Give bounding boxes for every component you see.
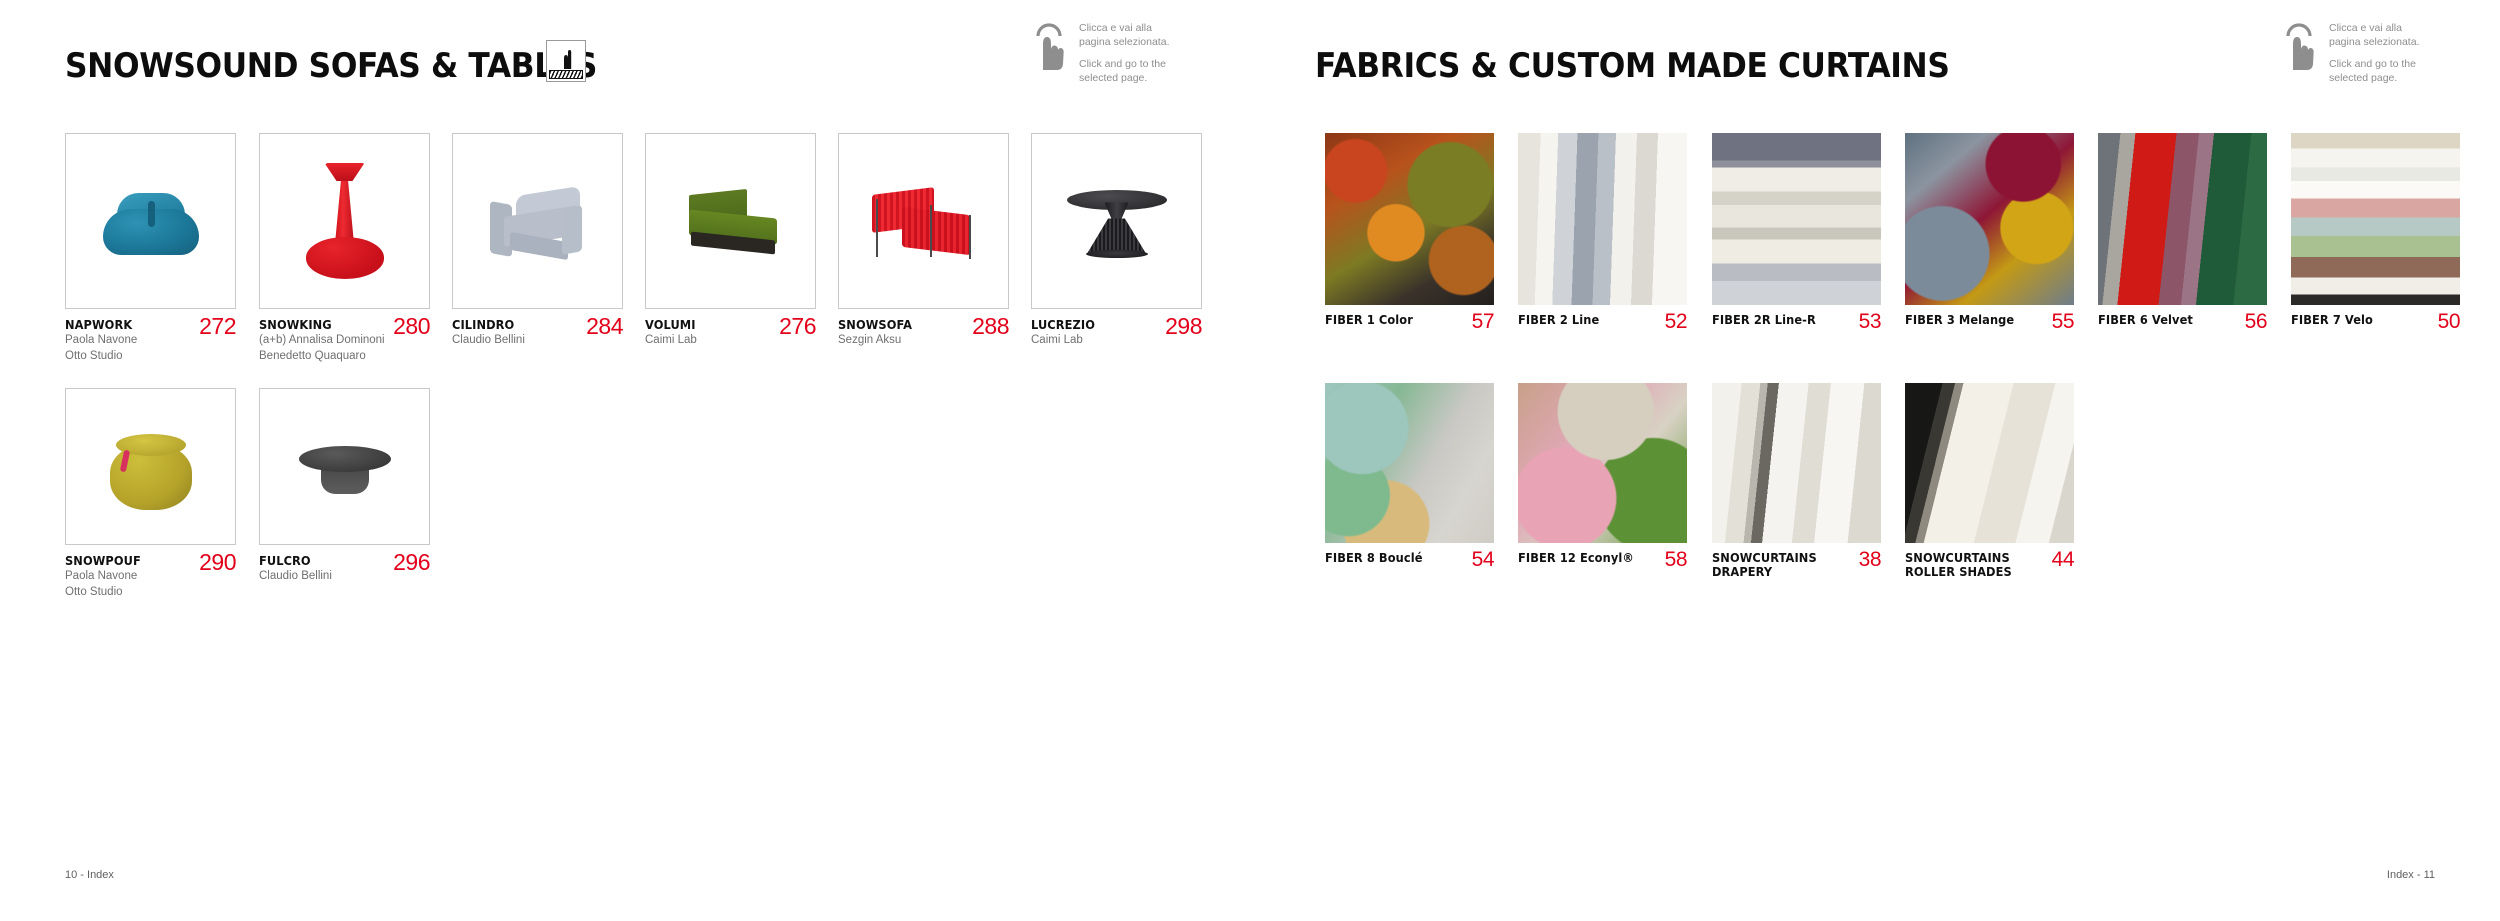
fabric-name-line1: FIBER 2R Line-R	[1712, 313, 1873, 327]
product-page-number[interactable]: 284	[586, 313, 623, 340]
fabric-caption: FIBER 2 Line 52	[1518, 313, 1687, 347]
product-card-snowsofa[interactable]: SNOWSOFA Sezgin Aksu 288	[838, 133, 1009, 376]
fabric-card-fiber-8-boucle[interactable]: FIBER 8 Bouclé 54	[1325, 383, 1494, 585]
fabric-card-fiber-12-econyl[interactable]: FIBER 12 Econyl® 58	[1518, 383, 1687, 585]
product-card-snowpouf[interactable]: SNOWPOUF Paola Navone Otto Studio 290	[65, 388, 236, 612]
hand-pointer-badge-icon	[546, 40, 586, 82]
fabric-thumb[interactable]	[1905, 133, 2074, 305]
fabric-caption: SNOWCURTAINS DRAPERY 38	[1712, 551, 1881, 585]
fabric-name-line1: FIBER 7 Velo	[2291, 313, 2452, 327]
fabric-thumb[interactable]	[1518, 133, 1687, 305]
fabric-caption: FIBER 12 Econyl® 58	[1518, 551, 1687, 585]
fabric-thumb[interactable]	[1325, 383, 1494, 543]
fabric-card-fiber-6-velvet[interactable]: FIBER 6 Velvet 56	[2098, 133, 2267, 347]
fabric-page-number[interactable]: 53	[1859, 310, 1881, 334]
product-thumb[interactable]	[65, 133, 236, 309]
fabric-caption: FIBER 8 Bouclé 54	[1325, 551, 1494, 585]
product-card-fulcro[interactable]: FULCRO Claudio Bellini 296	[259, 388, 430, 612]
fabric-name-line1: SNOWCURTAINS	[1905, 551, 2066, 565]
fabric-card-snowcurtains-roller-shades[interactable]: SNOWCURTAINS ROLLER SHADES 44	[1905, 383, 2074, 585]
fabric-card-fiber-7-velo[interactable]: FIBER 7 Velo 50	[2291, 133, 2460, 347]
click-hint-text: Clicca e vai alla pagina selezionata. Cl…	[1079, 18, 1170, 85]
product-page-number[interactable]: 288	[972, 313, 1009, 340]
left-page: SNOWSOUND SOFAS & TABLES Clicca e vai al…	[0, 0, 1250, 921]
product-page-number[interactable]: 276	[779, 313, 816, 340]
fabric-page-number[interactable]: 52	[1665, 310, 1687, 334]
fabric-name-line1: FIBER 8 Bouclé	[1325, 551, 1486, 565]
product-card-volumi[interactable]: VOLUMI Caimi Lab 276	[645, 133, 816, 376]
fabric-caption: FIBER 6 Velvet 56	[2098, 313, 2267, 347]
fabric-swatch-image	[1325, 133, 1494, 305]
hand-click-icon	[1030, 18, 1068, 72]
fabric-name-line2: DRAPERY	[1712, 565, 1873, 579]
fabric-caption: FIBER 1 Color 57	[1325, 313, 1494, 347]
hint-en-line1: Click and go to the	[2329, 58, 2420, 72]
fabric-caption: SNOWCURTAINS ROLLER SHADES 44	[1905, 551, 2074, 585]
hand-click-icon	[2280, 18, 2318, 72]
product-thumb[interactable]	[259, 388, 430, 545]
fabric-swatch-image	[1905, 133, 2074, 305]
left-page-footer: 10 - Index	[65, 869, 114, 881]
product-thumb[interactable]	[838, 133, 1009, 309]
product-designer-2: Benedetto Quaquaro	[259, 349, 430, 364]
click-hint-text: Clicca e vai alla pagina selezionata. Cl…	[2329, 18, 2420, 85]
hint-it-line2: pagina selezionata.	[2329, 36, 2420, 50]
fabric-name-line2: ROLLER SHADES	[1905, 565, 2066, 579]
page-title: FABRICS & CUSTOM MADE CURTAINS	[1315, 46, 1950, 86]
lucrezio-artwork	[1067, 188, 1167, 260]
product-caption: LUCREZIO Caimi Lab 298	[1031, 318, 1202, 376]
fabric-card-fiber-1-color[interactable]: FIBER 1 Color 57	[1325, 133, 1494, 347]
product-caption: CILINDRO Claudio Bellini 284	[452, 318, 623, 376]
fabric-thumb[interactable]	[1712, 383, 1881, 543]
fabric-name-line1: FIBER 6 Velvet	[2098, 313, 2259, 327]
cilindro-artwork	[486, 185, 590, 263]
fabric-thumb[interactable]	[1712, 133, 1881, 305]
fabric-thumb[interactable]	[2098, 133, 2267, 305]
fabric-page-number[interactable]: 58	[1665, 548, 1687, 572]
fabric-swatch-image	[2291, 133, 2460, 305]
product-designer-2: Otto Studio	[65, 349, 236, 364]
fabric-name-line1: FIBER 1 Color	[1325, 313, 1486, 327]
hint-it-line1: Clicca e vai alla	[2329, 22, 2420, 36]
napwork-artwork	[103, 193, 199, 255]
fabric-thumb[interactable]	[1518, 383, 1687, 543]
product-caption: SNOWSOFA Sezgin Aksu 288	[838, 318, 1009, 376]
product-card-snowking[interactable]: SNOWKING (a+b) Annalisa Dominoni Benedet…	[259, 133, 430, 376]
product-designer-2: Otto Studio	[65, 585, 236, 600]
hint-en-line1: Click and go to the	[1079, 58, 1170, 72]
fabric-swatch-image	[1712, 383, 1881, 543]
fulcro-artwork	[299, 446, 391, 500]
product-card-lucrezio[interactable]: LUCREZIO Caimi Lab 298	[1031, 133, 1202, 376]
product-page-number[interactable]: 290	[199, 549, 236, 576]
fabric-card-fiber-3-melange[interactable]: FIBER 3 Melange 55	[1905, 133, 2074, 347]
hint-it-line2: pagina selezionata.	[1079, 36, 1170, 50]
fabric-page-number[interactable]: 54	[1472, 548, 1494, 572]
product-caption: SNOWPOUF Paola Navone Otto Studio 290	[65, 554, 236, 612]
right-page: FABRICS & CUSTOM MADE CURTAINS Clicca e …	[1250, 0, 2500, 921]
hint-it-line1: Clicca e vai alla	[1079, 22, 1170, 36]
product-page-number[interactable]: 296	[393, 549, 430, 576]
product-thumb[interactable]	[645, 133, 816, 309]
fabric-swatch-image	[1712, 133, 1881, 305]
fabric-page-number[interactable]: 44	[2052, 548, 2074, 572]
hand-glyph-icon	[560, 50, 573, 69]
hatch-strip	[549, 70, 583, 79]
product-page-number[interactable]: 272	[199, 313, 236, 340]
product-caption: FULCRO Claudio Bellini 296	[259, 554, 430, 612]
fabric-thumb[interactable]	[1905, 383, 2074, 543]
fabric-name-line1: FIBER 2 Line	[1518, 313, 1679, 327]
snowpouf-artwork	[108, 430, 194, 512]
fabric-swatch-image	[1905, 383, 2074, 543]
product-thumb[interactable]	[1031, 133, 1202, 309]
fabric-swatch-image	[2098, 133, 2267, 305]
fabric-page-number[interactable]: 38	[1859, 548, 1881, 572]
product-thumb[interactable]	[259, 133, 430, 309]
fabric-caption: FIBER 2R Line-R 53	[1712, 313, 1881, 347]
catalog-index-spread: SNOWSOUND SOFAS & TABLES Clicca e vai al…	[0, 0, 2500, 921]
fabric-page-number[interactable]: 56	[2245, 310, 2267, 334]
snowsofa-artwork	[870, 187, 978, 261]
fabric-card-fiber-2r-line-r[interactable]: FIBER 2R Line-R 53	[1712, 133, 1881, 347]
fabric-page-number[interactable]: 57	[1472, 310, 1494, 334]
fabric-card-snowcurtains-drapery[interactable]: SNOWCURTAINS DRAPERY 38	[1712, 383, 1881, 585]
fabric-name-line1: SNOWCURTAINS	[1712, 551, 1873, 565]
hint-en-line2: selected page.	[2329, 72, 2420, 86]
fabric-thumb[interactable]	[1325, 133, 1494, 305]
fabric-name-line1: FIBER 3 Melange	[1905, 313, 2066, 327]
fabric-caption: FIBER 7 Velo 50	[2291, 313, 2460, 347]
product-caption: VOLUMI Caimi Lab 276	[645, 318, 816, 376]
fabric-card-fiber-2-line[interactable]: FIBER 2 Line 52	[1518, 133, 1687, 347]
volumi-artwork	[683, 192, 779, 256]
fabric-swatch-image	[1518, 383, 1687, 543]
fabric-caption: FIBER 3 Melange 55	[1905, 313, 2074, 347]
page-title: SNOWSOUND SOFAS & TABLES	[65, 46, 597, 86]
fabric-page-number[interactable]: 55	[2052, 310, 2074, 334]
hint-en-line2: selected page.	[1079, 72, 1170, 86]
fabric-thumb[interactable]	[2291, 133, 2460, 305]
click-hint-right: Clicca e vai alla pagina selezionata. Cl…	[2280, 18, 2420, 85]
snowking-artwork	[306, 163, 384, 279]
product-page-number[interactable]: 298	[1165, 313, 1202, 340]
product-caption: NAPWORK Paola Navone Otto Studio 272	[65, 318, 236, 376]
click-hint-left: Clicca e vai alla pagina selezionata. Cl…	[1030, 18, 1170, 85]
product-thumb[interactable]	[452, 133, 623, 309]
fabric-swatch-image	[1325, 383, 1494, 543]
product-card-napwork[interactable]: NAPWORK Paola Navone Otto Studio 272	[65, 133, 236, 376]
product-page-number[interactable]: 280	[393, 313, 430, 340]
fabric-page-number[interactable]: 50	[2438, 310, 2460, 334]
right-page-footer: Index - 11	[2387, 869, 2435, 881]
fabric-name-line1: FIBER 12 Econyl®	[1518, 551, 1679, 565]
fabric-swatch-image	[1518, 133, 1687, 305]
product-caption: SNOWKING (a+b) Annalisa Dominoni Benedet…	[259, 318, 430, 376]
product-card-cilindro[interactable]: CILINDRO Claudio Bellini 284	[452, 133, 623, 376]
product-thumb[interactable]	[65, 388, 236, 545]
